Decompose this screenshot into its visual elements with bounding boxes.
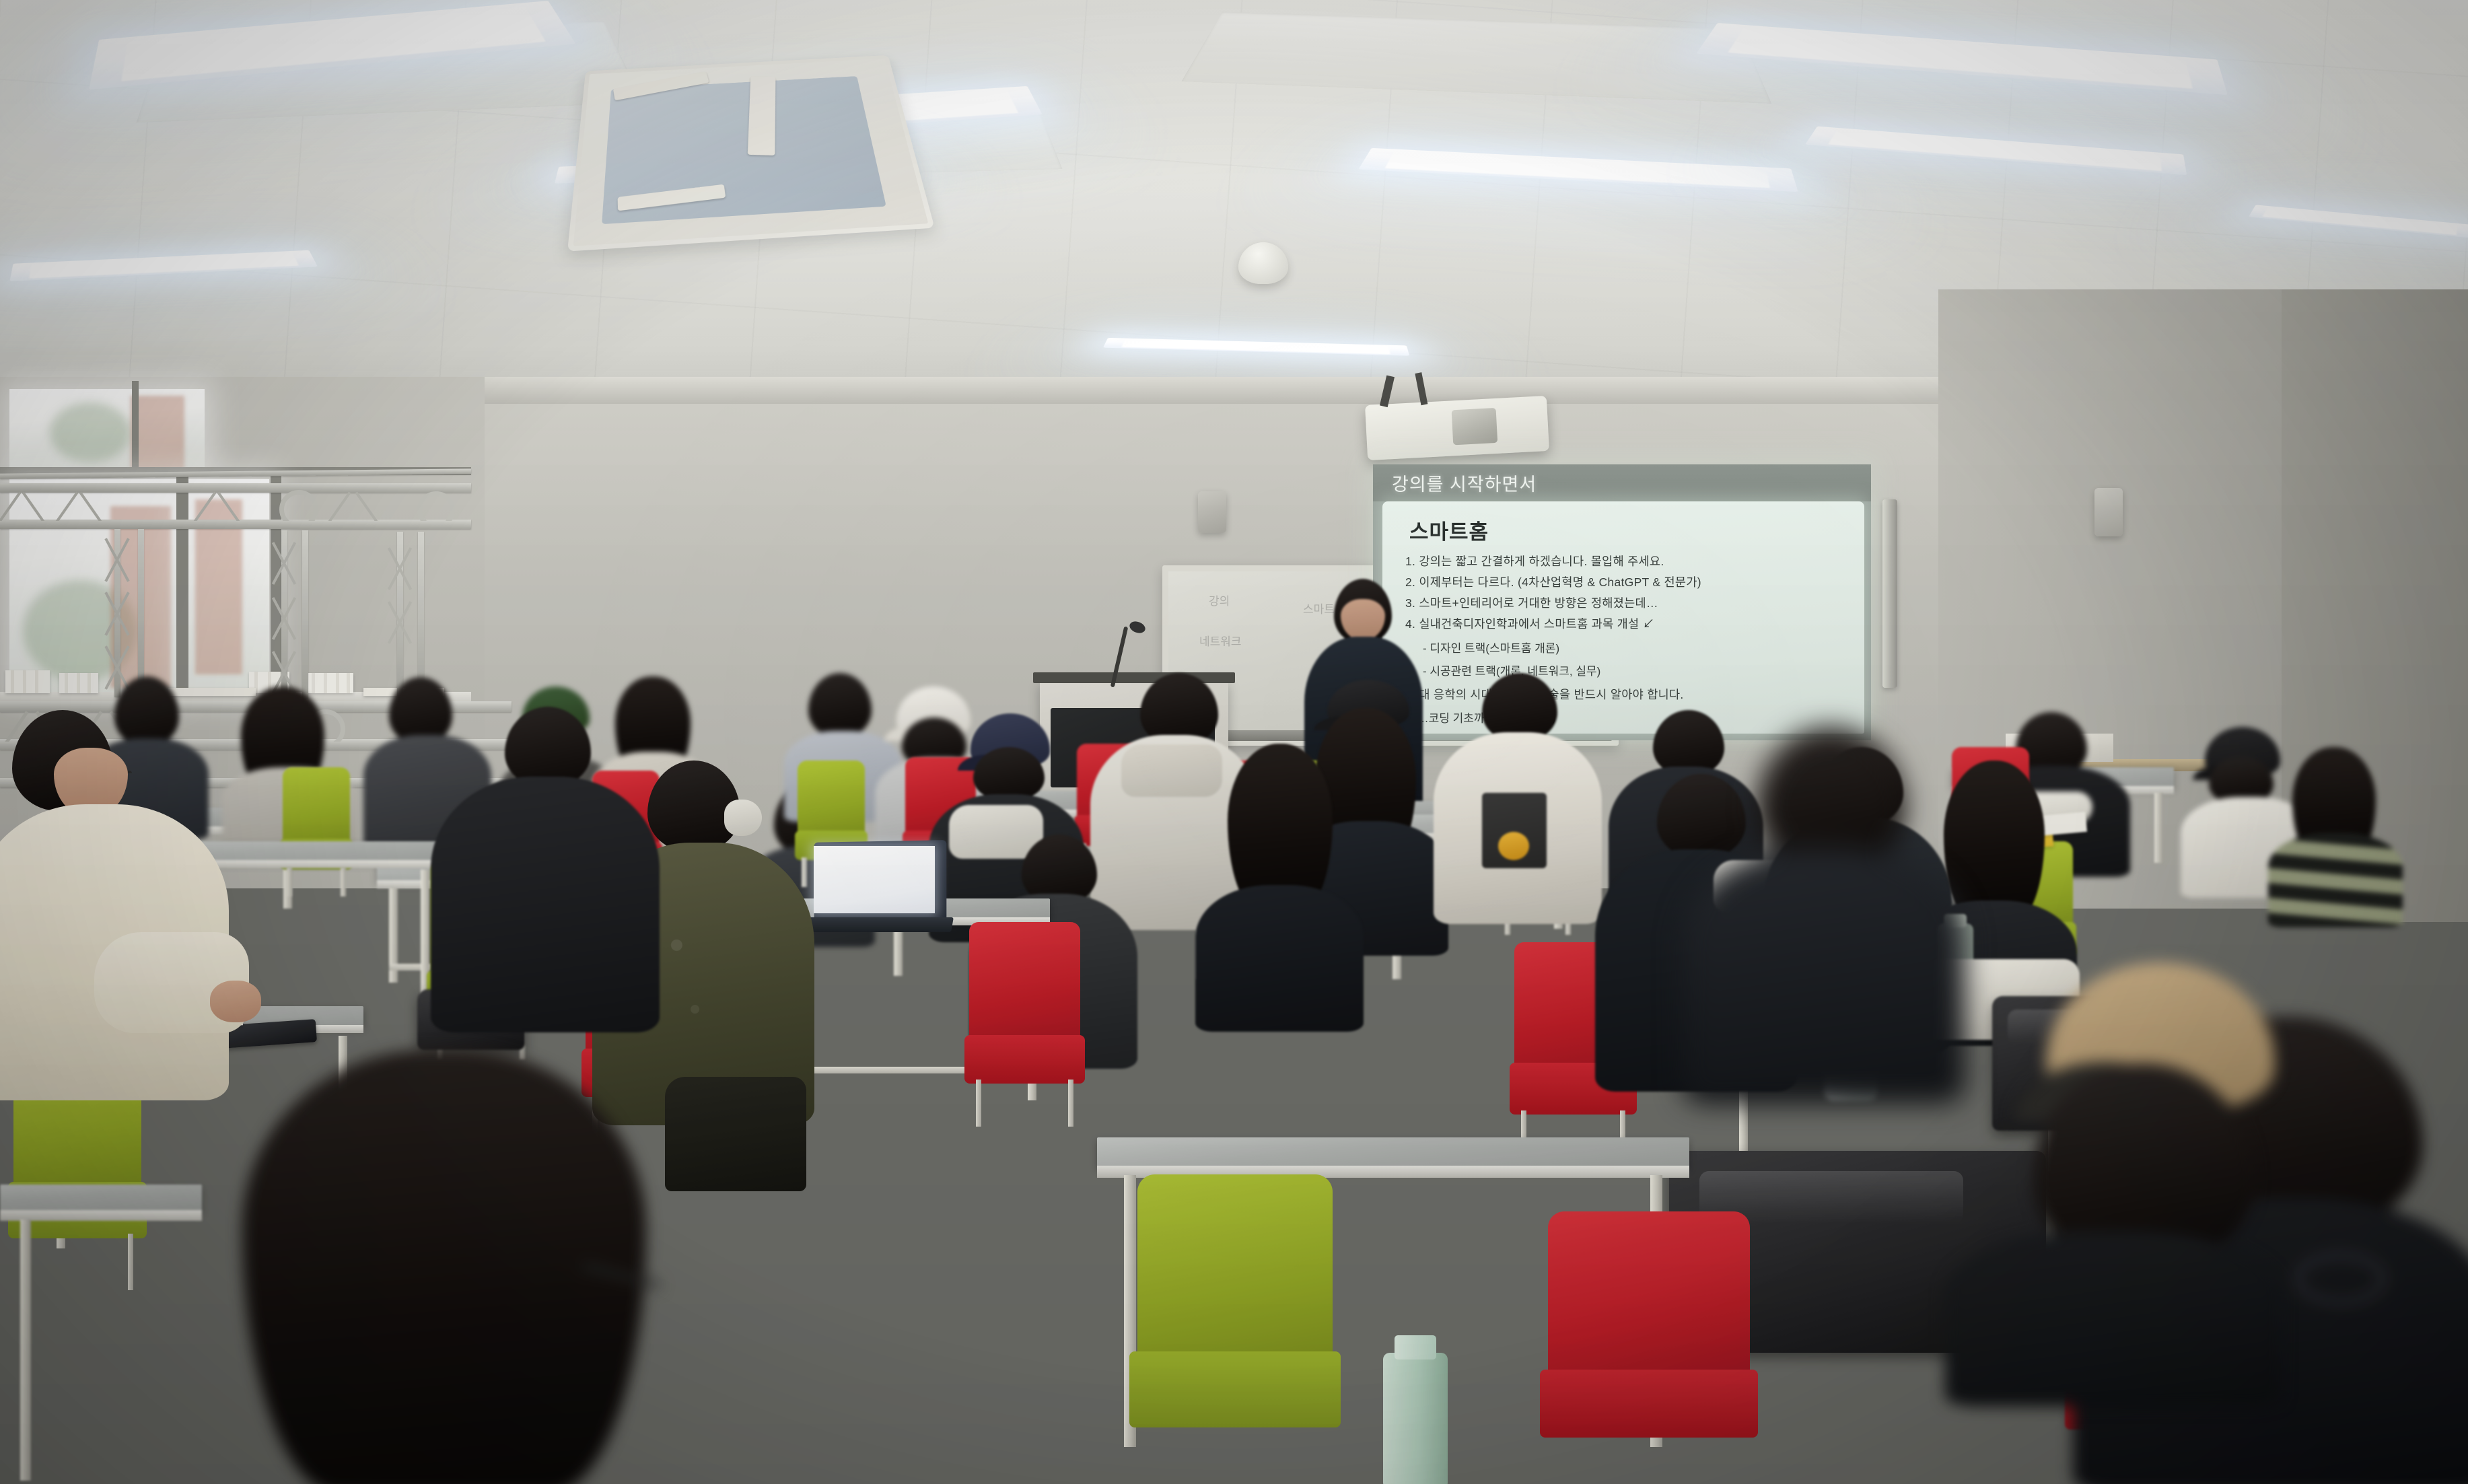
- student-torso: [1195, 885, 1364, 1032]
- wall-speaker: [2094, 488, 2123, 536]
- thermos[interactable]: [1383, 1353, 1448, 1484]
- slide-sub-bullet: - 디자인 트랙(스마트홈 개론): [1423, 639, 1851, 656]
- student-head: [808, 673, 872, 738]
- table: [0, 1185, 202, 1481]
- student-head: [505, 707, 591, 787]
- chair-green[interactable]: [1137, 1174, 1333, 1484]
- whiteboard-note: 강의: [1209, 592, 1230, 608]
- student-legs: [665, 1077, 806, 1191]
- face-mask-icon: [724, 800, 762, 836]
- chair-red[interactable]: [969, 922, 1080, 1124]
- student: [1434, 673, 1602, 922]
- student-hand: [210, 981, 261, 1022]
- chair-red[interactable]: [1548, 1211, 1750, 1484]
- shirt-logo-icon: [2295, 1253, 2385, 1304]
- slide-header-text: 강의를 시작하면서: [1392, 470, 1537, 496]
- slide-bullet: 4. 실내건축디자인학과에서 스마트홈 과목 개설 ↙: [1405, 617, 1851, 631]
- foreground-student: [1932, 962, 2282, 1393]
- architecture-model: [5, 670, 50, 693]
- truss-column: [114, 529, 144, 697]
- slide-bullet: 2. 이제부터는 다르다. (4차산업혁명 & ChatGPT & 전문가): [1405, 575, 1851, 589]
- slide-bullet: 3. 스마트+인테리어로 거대한 방향은 정해졌는데…: [1405, 596, 1851, 610]
- student: [2268, 747, 2403, 922]
- student: [431, 707, 660, 1023]
- student-torso: [1945, 1232, 2282, 1407]
- window-mullion: [132, 381, 139, 475]
- student-head: [1757, 727, 1905, 868]
- student-head: [1482, 673, 1557, 742]
- wall-pipe: [1882, 499, 1897, 688]
- foreground-student: [202, 1050, 673, 1484]
- ceiling-projector: [1365, 396, 1549, 460]
- truss-lattice: [0, 489, 471, 521]
- student: [1191, 744, 1366, 1026]
- window-upper: [9, 389, 205, 470]
- laptop[interactable]: [808, 841, 949, 929]
- truss-column: [281, 530, 308, 699]
- slide-header: 강의를 시작하면서: [1373, 464, 1871, 501]
- slide-title: 스마트홈: [1409, 515, 1851, 545]
- truss-beam: [0, 520, 471, 529]
- ac-vent: [567, 55, 935, 252]
- student-jacket: [431, 777, 660, 1032]
- student-cream-hoodie: [0, 710, 229, 1147]
- sweatshirt-graphic-accent: [1498, 832, 1529, 860]
- wall-speaker: [1198, 491, 1226, 533]
- student-striped-sweater: [2268, 833, 2403, 927]
- whiteboard-note: 네트워크: [1199, 632, 1242, 649]
- classroom-photo: 강의 스마트 홈 네트워크 개론 강의를 시작하면서 스마트홈 1. 강의는 짧…: [0, 0, 2468, 1484]
- student-torso: [1683, 848, 1965, 1104]
- slide-bullet: 1. 강의는 짧고 간결하게 하겠습니다. 몰입해 주세요.: [1405, 555, 1851, 568]
- foreground-student: [1683, 727, 1965, 1104]
